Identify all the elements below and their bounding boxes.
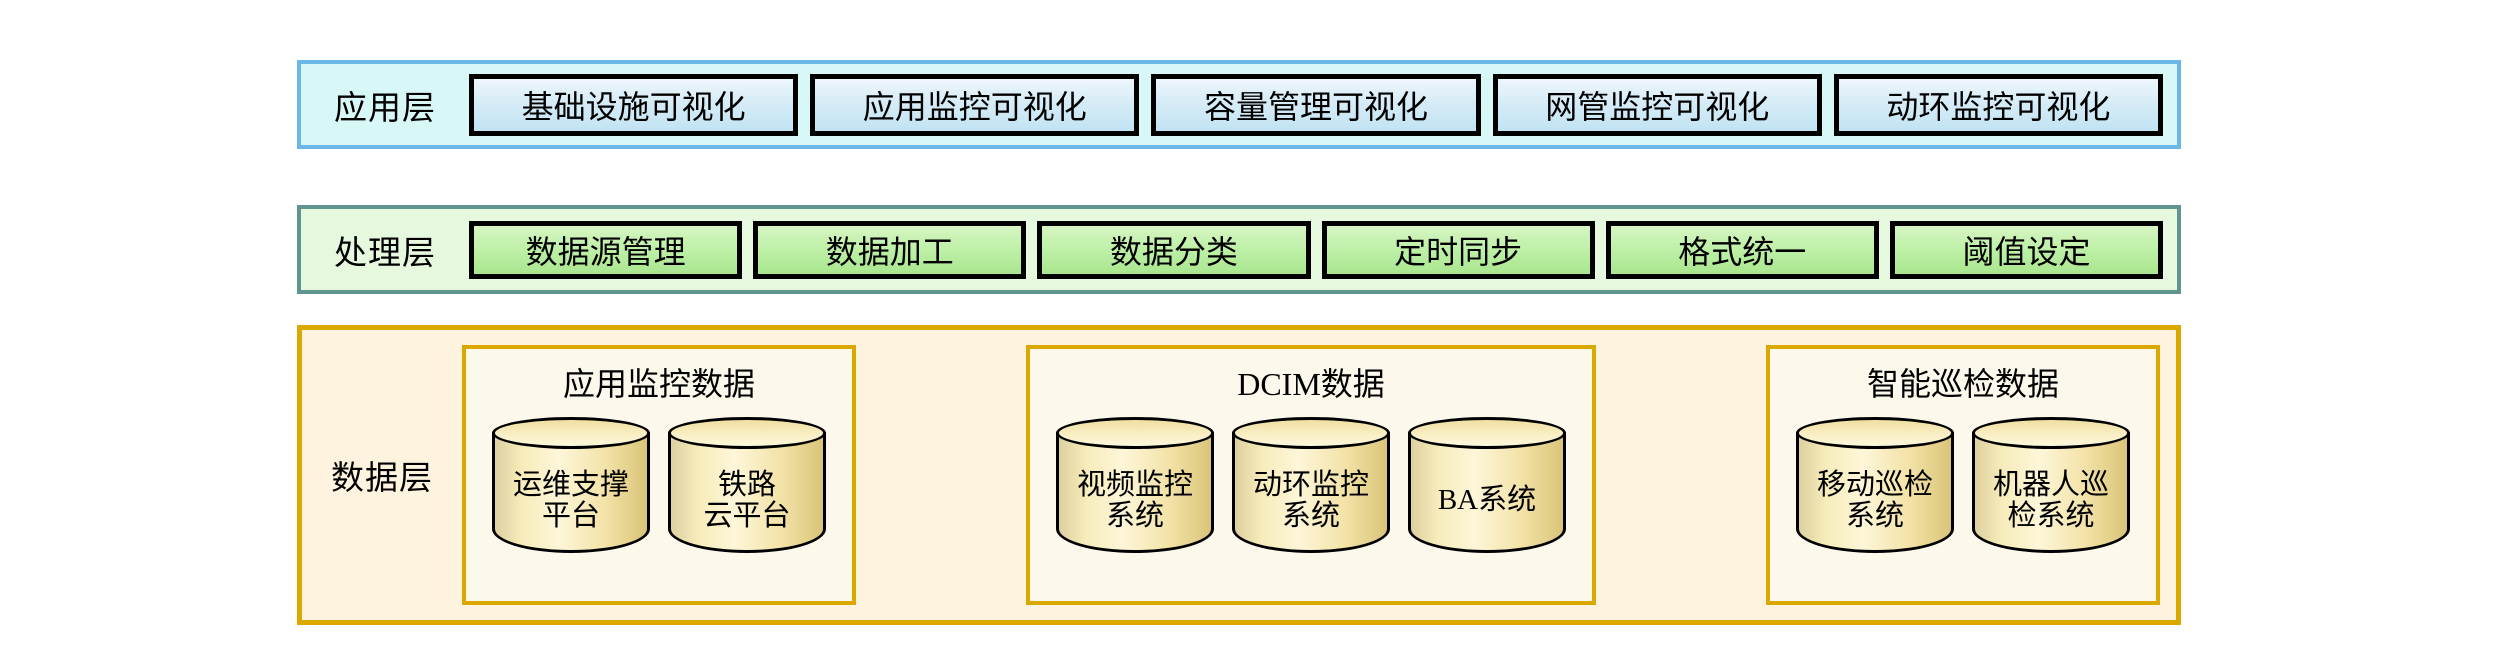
data-source-label: BA系统 xyxy=(1408,455,1566,547)
data-source-cylinder-ops-support-platform[interactable]: 运维支撑 平台 xyxy=(492,417,650,553)
data-source-label-line1: 动环监控 xyxy=(1253,470,1369,501)
data-source-row: 视频监控 系统 动环监控 系统 xyxy=(1056,417,1566,553)
cylinder-top-ellipse xyxy=(1232,417,1390,449)
data-group-title: 智能巡检数据 xyxy=(1867,359,2059,405)
data-source-row: 运维支撑 平台 铁路 云平台 xyxy=(492,417,826,553)
data-source-label-line2: 检系统 xyxy=(2007,501,2094,532)
proc-box-data-processing[interactable]: 数据加工 xyxy=(753,221,1026,279)
app-box-capacity-management-visualization[interactable]: 容量管理可视化 xyxy=(1151,74,1480,136)
application-layer-label: 应用层 xyxy=(301,81,469,129)
data-layer: 数据层 应用监控数据 运维支撑 平台 xyxy=(297,325,2181,625)
data-group-title: 应用监控数据 xyxy=(563,359,755,405)
data-group-dcim: DCIM数据 视频监控 系统 动环监控 xyxy=(1026,345,1596,605)
data-source-label: 运维支撑 平台 xyxy=(492,455,650,547)
proc-box-scheduled-sync[interactable]: 定时同步 xyxy=(1322,221,1595,279)
data-source-label: 动环监控 系统 xyxy=(1232,455,1390,547)
data-source-cylinder-environment-monitoring-system[interactable]: 动环监控 系统 xyxy=(1232,417,1390,553)
app-box-infrastructure-visualization[interactable]: 基础设施可视化 xyxy=(469,74,798,136)
cylinder-top-ellipse xyxy=(668,417,826,449)
cylinder-top-ellipse xyxy=(1408,417,1566,449)
data-source-label-line1: 铁路 xyxy=(718,470,776,501)
cylinder-top-ellipse xyxy=(1972,417,2130,449)
data-source-label: 机器人巡 检系统 xyxy=(1972,455,2130,547)
data-source-label-line2: 系统 xyxy=(1282,501,1340,532)
data-source-label-line2: 平台 xyxy=(542,501,600,532)
processing-layer-items: 数据源管理 数据加工 数据分类 定时同步 格式统一 阈值设定 xyxy=(469,209,2177,290)
app-box-environment-monitoring-visualization[interactable]: 动环监控可视化 xyxy=(1834,74,2163,136)
processing-layer: 处理层 数据源管理 数据加工 数据分类 定时同步 格式统一 阈值设定 xyxy=(297,205,2181,294)
proc-box-threshold-setting[interactable]: 阈值设定 xyxy=(1890,221,2163,279)
processing-layer-label: 处理层 xyxy=(301,226,469,274)
layered-architecture-diagram: 应用层 基础设施可视化 应用监控可视化 容量管理可视化 网管监控可视化 动环监控… xyxy=(0,0,2520,649)
data-group-title: DCIM数据 xyxy=(1237,359,1385,405)
data-source-label-line1: 机器人巡 xyxy=(1993,470,2109,501)
application-layer-items: 基础设施可视化 应用监控可视化 容量管理可视化 网管监控可视化 动环监控可视化 xyxy=(469,64,2177,145)
data-source-label-line2: 系统 xyxy=(1846,501,1904,532)
data-source-label: 移动巡检 系统 xyxy=(1796,455,1954,547)
data-source-label-line1: BA系统 xyxy=(1438,485,1536,516)
cylinder-top-ellipse xyxy=(492,417,650,449)
proc-box-datasource-management[interactable]: 数据源管理 xyxy=(469,221,742,279)
proc-box-format-unification[interactable]: 格式统一 xyxy=(1606,221,1879,279)
data-source-label: 铁路 云平台 xyxy=(668,455,826,547)
data-source-label-line1: 运维支撑 xyxy=(513,470,629,501)
proc-box-data-classification[interactable]: 数据分类 xyxy=(1037,221,1310,279)
app-box-network-monitoring-visualization[interactable]: 网管监控可视化 xyxy=(1493,74,1822,136)
data-source-cylinder-robot-inspection-system[interactable]: 机器人巡 检系统 xyxy=(1972,417,2130,553)
data-source-cylinder-mobile-inspection-system[interactable]: 移动巡检 系统 xyxy=(1796,417,1954,553)
cylinder-top-ellipse xyxy=(1056,417,1214,449)
data-group-application-monitoring: 应用监控数据 运维支撑 平台 铁路 xyxy=(462,345,856,605)
application-layer: 应用层 基础设施可视化 应用监控可视化 容量管理可视化 网管监控可视化 动环监控… xyxy=(297,60,2181,149)
app-box-application-monitoring-visualization[interactable]: 应用监控可视化 xyxy=(810,74,1139,136)
data-group-intelligent-inspection: 智能巡检数据 移动巡检 系统 机器人巡 xyxy=(1766,345,2160,605)
data-source-label-line1: 移动巡检 xyxy=(1817,470,1933,501)
data-source-row: 移动巡检 系统 机器人巡 检系统 xyxy=(1796,417,2130,553)
data-source-cylinder-railway-cloud-platform[interactable]: 铁路 云平台 xyxy=(668,417,826,553)
data-layer-groups: 应用监控数据 运维支撑 平台 铁路 xyxy=(462,330,2176,620)
cylinder-top-ellipse xyxy=(1796,417,1954,449)
data-source-label: 视频监控 系统 xyxy=(1056,455,1214,547)
data-source-cylinder-video-surveillance-system[interactable]: 视频监控 系统 xyxy=(1056,417,1214,553)
data-source-cylinder-ba-system[interactable]: BA系统 xyxy=(1408,417,1566,553)
data-layer-label: 数据层 xyxy=(302,451,462,499)
data-source-label-line2: 系统 xyxy=(1106,501,1164,532)
data-source-label-line2: 云平台 xyxy=(703,501,790,532)
data-source-label-line1: 视频监控 xyxy=(1077,470,1193,501)
